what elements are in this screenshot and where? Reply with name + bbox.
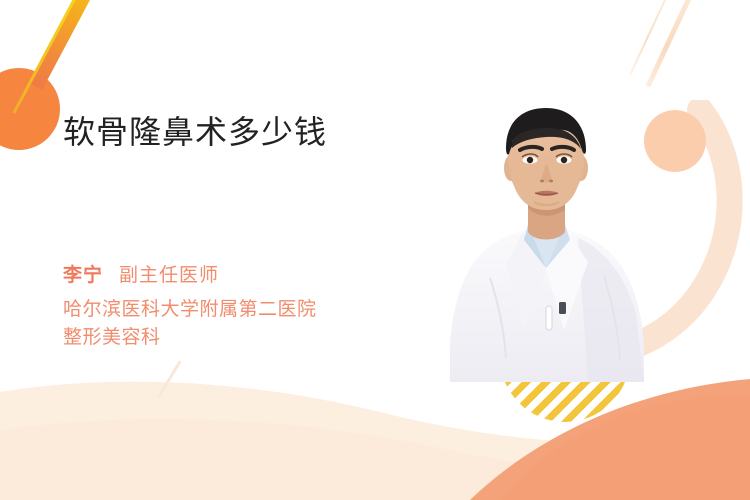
pen-body [546, 306, 552, 330]
nostril-left [540, 180, 544, 183]
doctor-credential-line: 李宁 副主任医师 [63, 260, 463, 287]
pupil-left [527, 157, 533, 163]
diagonal-stripe-top-right-b [629, 0, 673, 76]
doctor-promo-banner: 软骨隆鼻术多少钱 李宁 副主任医师 哈尔滨医科大学附属第二医院 整形美容科 [0, 0, 750, 500]
nostril-right [549, 180, 553, 183]
pen-clip [559, 302, 566, 314]
pupil-right [561, 157, 567, 163]
diagonal-stripe-thick-top-left [31, 0, 99, 90]
cream-wave-bottom [0, 382, 750, 500]
page-title: 软骨隆鼻术多少钱 [63, 112, 463, 152]
doctor-photo [428, 92, 664, 382]
orange-circle-left [0, 68, 60, 150]
doctor-title: 副主任医师 [119, 260, 219, 287]
salmon-wave-overlap [500, 396, 750, 500]
diagonal-stripe-thin-top-left [12, 0, 78, 114]
doctor-hospital: 哈尔滨医科大学附属第二医院 [63, 296, 463, 324]
doctor-name: 李宁 [63, 260, 103, 287]
cream-wave-secondary [0, 419, 750, 500]
salmon-wave-bottom-right [470, 379, 750, 500]
text-content-block: 软骨隆鼻术多少钱 李宁 副主任医师 哈尔滨医科大学附属第二医院 整形美容科 [63, 112, 463, 351]
doctor-department: 整形美容科 [63, 324, 463, 352]
diagonal-stripe-top-right-a [645, 0, 695, 88]
diagonal-stripe-bottom-left [157, 360, 181, 398]
